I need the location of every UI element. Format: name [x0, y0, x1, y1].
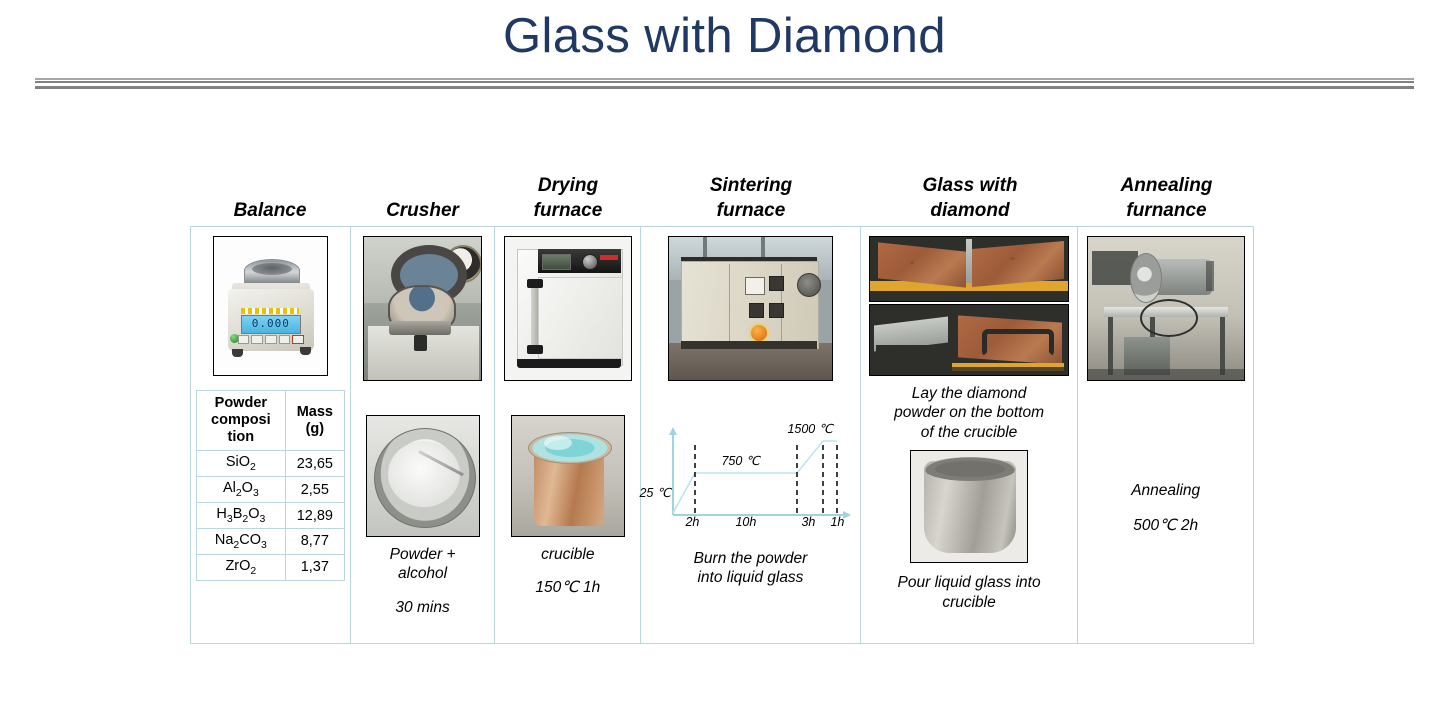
table-row: ZrO21,37: [196, 554, 344, 580]
chart-tick-1h: 1h: [830, 515, 844, 529]
sintering-furnace-photo: [668, 236, 833, 381]
chart-tick-10h: 10h: [735, 515, 756, 529]
metal-crucible-photo: [910, 450, 1028, 563]
cell-compound: Al2O3: [196, 477, 285, 503]
copper-mold-handle-photo: [869, 304, 1069, 376]
chart-peak-temp-label: 1500 ℃: [787, 421, 832, 436]
column-annealing-furnace: Annealing 500℃ 2h: [1078, 227, 1253, 643]
header-annealing-furnace: Annealing furnance: [1079, 173, 1254, 226]
cell-mass: 12,89: [285, 503, 344, 529]
chart-tick-2h: 2h: [685, 515, 699, 529]
header-drying-furnace: Drying furnace: [495, 173, 641, 226]
table-row: Na2CO38,77: [196, 529, 344, 555]
cell-mass: 8,77: [285, 529, 344, 555]
table-header-row: Powder composi tion Mass (g): [196, 391, 344, 451]
crusher-duration: 30 mins: [395, 598, 449, 617]
th-powder-composition: Powder composi tion: [196, 391, 285, 451]
column-drying-furnace: crucible 150℃ 1h: [495, 227, 641, 643]
cell-compound: SiO2: [196, 451, 285, 477]
cell-compound: ZrO2: [196, 554, 285, 580]
foil-lined-crucible-photo: [511, 415, 625, 537]
glass-top-caption: Lay the diamond powder on the bottom of …: [894, 384, 1044, 442]
precision-balance-photo: 0.000: [213, 236, 328, 376]
drying-oven-photo: [504, 236, 632, 381]
sintering-temperature-chart: 25 ℃ 750 ℃ 1500 ℃ 2h 10h 3h 1h: [645, 423, 855, 531]
powder-composition-table: Powder composi tion Mass (g) SiO223,65Al…: [196, 390, 345, 581]
copper-mold-plates-photo: [869, 236, 1069, 302]
cell-mass: 1,37: [285, 554, 344, 580]
title-divider: [35, 78, 1414, 90]
table-row: H3B2O312,89: [196, 503, 344, 529]
table-row: SiO223,65: [196, 451, 344, 477]
powder-alcohol-bowl-photo: [366, 415, 480, 537]
column-crusher: Powder + alcohol 30 mins: [351, 227, 496, 643]
crusher-caption: Powder + alcohol: [390, 545, 456, 584]
powder-table-body: SiO223,65Al2O32,55H3B2O312,89Na2CO38,77Z…: [196, 451, 344, 580]
crusher-mill-photo: [363, 236, 482, 381]
chart-plateau-temp-label: 750 ℃: [721, 453, 759, 468]
tube-annealing-furnace-photo: [1087, 236, 1245, 381]
column-glass-with-diamond: Lay the diamond powder on the bottom of …: [861, 227, 1079, 643]
th-mass: Mass (g): [285, 391, 344, 451]
annealing-caption: Annealing: [1131, 481, 1200, 500]
glass-bottom-caption: Pour liquid glass into crucible: [898, 573, 1041, 612]
drying-caption: crucible: [541, 545, 594, 564]
header-crusher: Crusher: [350, 198, 495, 226]
header-glass-with-diamond: Glass with diamond: [861, 173, 1079, 226]
cell-compound: H3B2O3: [196, 503, 285, 529]
column-sintering-furnace: 25 ℃ 750 ℃ 1500 ℃ 2h 10h 3h 1h Burn the …: [641, 227, 861, 643]
drying-parameters: 150℃ 1h: [535, 578, 600, 597]
header-balance: Balance: [190, 198, 350, 226]
chart-tick-3h: 3h: [801, 515, 815, 529]
column-balance: 0.000 Powder composi tion Mass (g): [191, 227, 351, 643]
header-sintering-furnace: Sintering furnace: [641, 173, 861, 226]
annealing-parameters: 500℃ 2h: [1133, 516, 1198, 535]
cell-compound: Na2CO3: [196, 529, 285, 555]
sintering-caption: Burn the powder into liquid glass: [694, 549, 808, 588]
process-flow-diagram: Balance Crusher Drying furnace Sintering…: [190, 160, 1254, 644]
process-columns: 0.000 Powder composi tion Mass (g): [190, 226, 1254, 644]
column-headers: Balance Crusher Drying furnace Sintering…: [190, 160, 1254, 226]
page-title: Glass with Diamond: [0, 8, 1449, 64]
chart-start-temp-label: 25 ℃: [639, 485, 670, 500]
cell-mass: 23,65: [285, 451, 344, 477]
cell-mass: 2,55: [285, 477, 344, 503]
balance-display-value: 0.000: [242, 317, 300, 330]
table-row: Al2O32,55: [196, 477, 344, 503]
